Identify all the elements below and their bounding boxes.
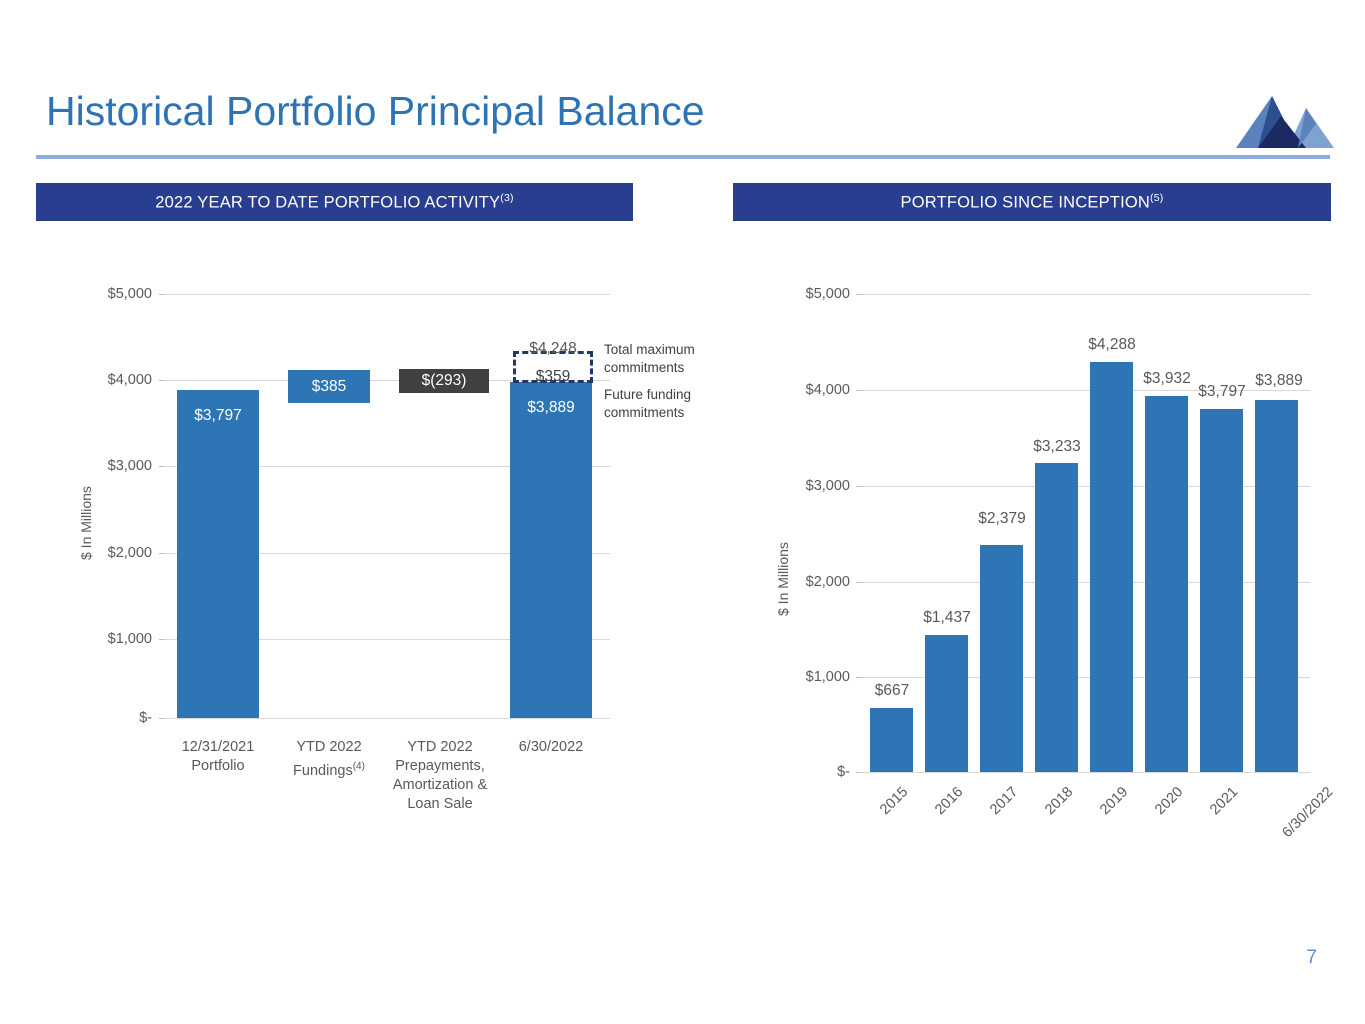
bar-label-2015: $667: [856, 682, 928, 700]
bar-label-2016: $1,437: [911, 609, 983, 627]
xlabel-2019: 2019: [1078, 784, 1132, 838]
ytick-label-2000: $2,000: [768, 574, 850, 590]
xlabel-2015: 2015: [858, 784, 912, 838]
tick-3000: [856, 486, 862, 487]
axis-baseline: [862, 772, 1310, 773]
ytick-label-0: $-: [768, 764, 850, 780]
chart-portfolio-since-inception: $ In Millions $5,000 $4,000 $3,000 $2,00…: [0, 0, 1365, 900]
bar-2020[interactable]: [1145, 396, 1188, 772]
xlabel-2018: 2018: [1023, 784, 1077, 838]
xlabel-2021: 2021: [1188, 784, 1242, 838]
gridline-5000: [862, 294, 1310, 295]
xlabel-2017: 2017: [968, 784, 1022, 838]
tick-4000: [856, 390, 862, 391]
ytick-label-5000: $5,000: [768, 286, 850, 302]
xlabel-2016: 2016: [913, 784, 967, 838]
tick-0: [856, 772, 862, 773]
bar-2018[interactable]: [1035, 463, 1078, 772]
bar-label-2019: $4,288: [1076, 336, 1148, 354]
xlabel-2020: 2020: [1133, 784, 1187, 838]
page-number: 7: [1306, 947, 1317, 969]
bar-label-2018: $3,233: [1021, 438, 1093, 456]
bar-2021[interactable]: [1200, 409, 1243, 772]
bar-label-6-30-2022: $3,889: [1243, 372, 1315, 390]
xlabel-6-30-2022: 6/30/2022: [1254, 784, 1336, 866]
ytick-label-1000: $1,000: [768, 669, 850, 685]
bar-2015[interactable]: [870, 708, 913, 772]
ytick-label-4000: $4,000: [768, 382, 850, 398]
ytick-label-3000: $3,000: [768, 478, 850, 494]
tick-1000: [856, 677, 862, 678]
tick-5000: [856, 294, 862, 295]
bar-label-2017: $2,379: [966, 510, 1038, 528]
tick-2000: [856, 582, 862, 583]
bar-6-30-2022[interactable]: [1255, 400, 1298, 772]
bar-2017[interactable]: [980, 545, 1023, 772]
bar-2019[interactable]: [1090, 362, 1133, 772]
bar-2016[interactable]: [925, 635, 968, 772]
